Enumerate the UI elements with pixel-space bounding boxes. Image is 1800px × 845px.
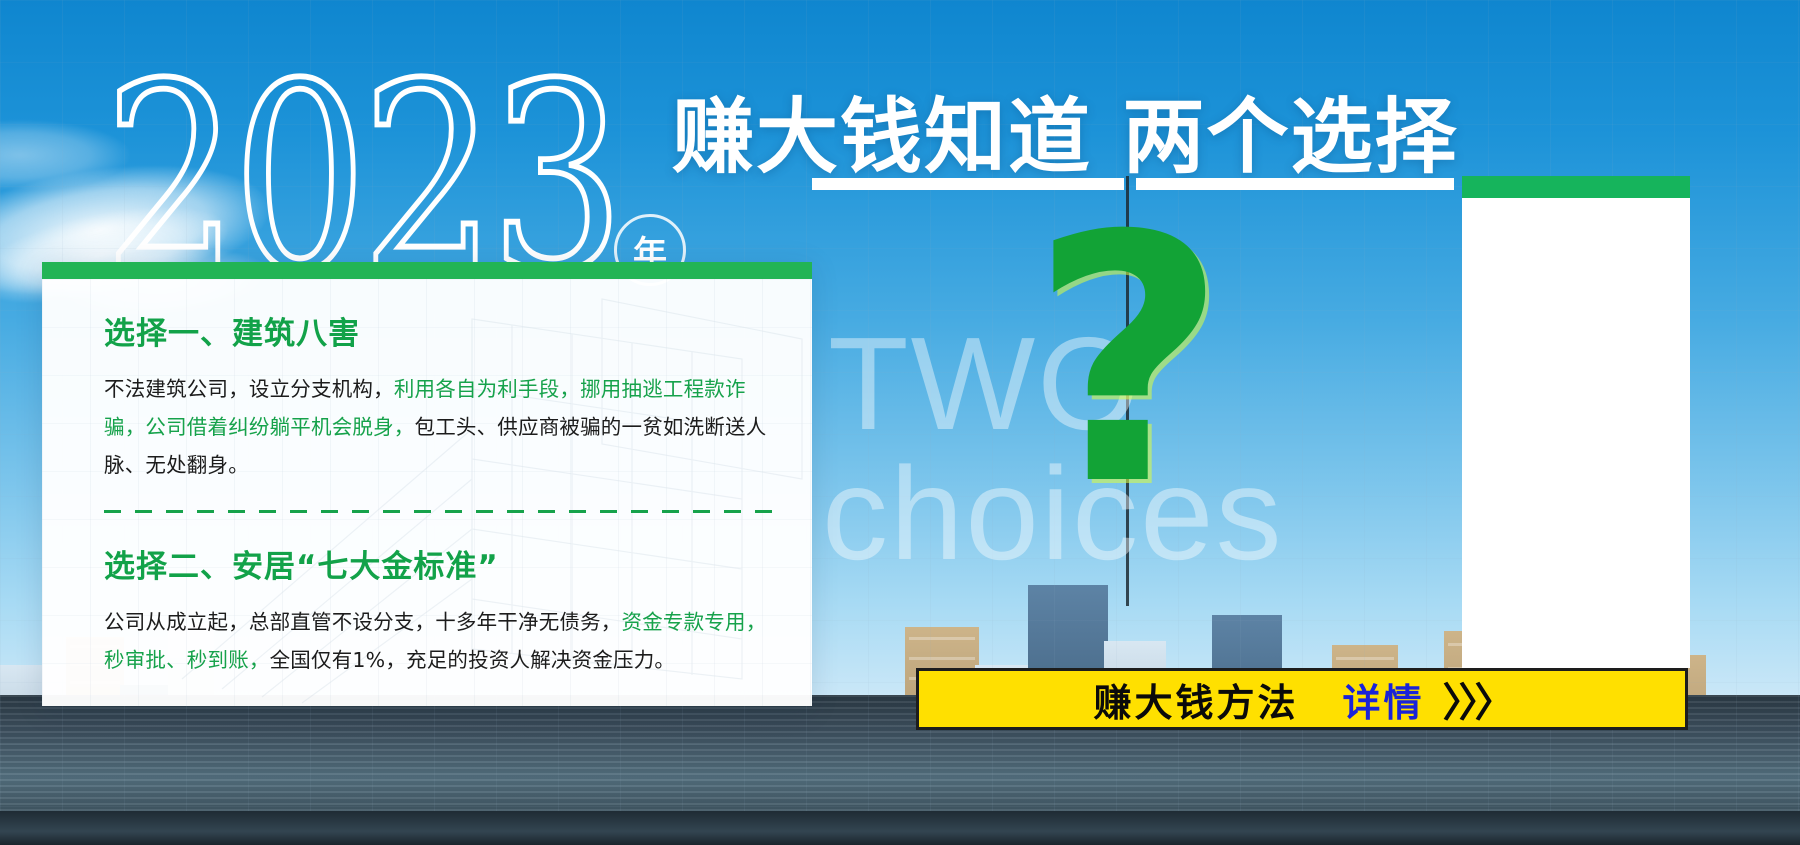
- year-badge: 2023 年: [104, 56, 744, 286]
- section-one-body: 不法建筑公司，设立分支机构，利用各自为利手段，挪用抽逃工程款诈骗，公司借着纠纷躺…: [104, 370, 784, 484]
- banner-stage: 2023 年 赚大钱知道 两个选择 TWO choices ?: [0, 0, 1800, 845]
- cta-main-label: 赚大钱方法: [1093, 672, 1298, 727]
- question-mark-icon: ?: [1030, 212, 1227, 512]
- chevron-right-icon: 〉〉〉: [1443, 670, 1511, 728]
- card-green-bar: [42, 262, 812, 279]
- cta-sub-label: 详情: [1343, 672, 1425, 727]
- section-two-body-part-1: 公司从成立起，总部直管不设分支，十多年干净无债务，: [104, 610, 622, 634]
- section-two-body-part-3: 全国仅有1%，充足的投资人解决资金压力。: [270, 648, 676, 672]
- section-two-title: 选择二、安居“七大金标准”: [104, 541, 784, 586]
- bottom-strip: [0, 811, 1800, 845]
- cta-button[interactable]: 赚大钱方法 详情 〉〉〉: [916, 668, 1688, 730]
- section-two: 选择二、安居“七大金标准” 公司从成立起，总部直管不设分支，十多年干净无债务，资…: [104, 541, 784, 679]
- section-divider: [104, 510, 784, 513]
- card-content: 选择一、建筑八害 不法建筑公司，设立分支机构，利用各自为利手段，挪用抽逃工程款诈…: [104, 308, 784, 679]
- content-card: 选择一、建筑八害 不法建筑公司，设立分支机构，利用各自为利手段，挪用抽逃工程款诈…: [42, 262, 812, 706]
- panel-green-accent: [1462, 176, 1690, 198]
- section-one: 选择一、建筑八害 不法建筑公司，设立分支机构，利用各自为利手段，挪用抽逃工程款诈…: [104, 308, 784, 484]
- section-one-title: 选择一、建筑八害: [104, 308, 784, 353]
- panel-white-block: [1462, 198, 1690, 668]
- section-one-body-part-1: 不法建筑公司，设立分支机构，: [104, 377, 394, 401]
- section-two-body: 公司从成立起，总部直管不设分支，十多年干净无债务，资金专款专用，秒审批、秒到账，…: [104, 603, 784, 679]
